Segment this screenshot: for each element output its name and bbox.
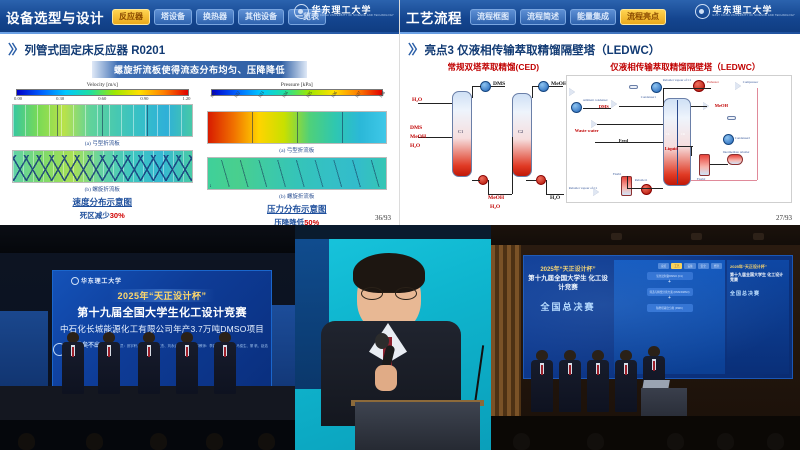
pressure-metric: 压降降低50%: [203, 217, 392, 225]
university-seal-icon: [71, 277, 79, 285]
led-tab: 经济: [711, 263, 722, 269]
team-member: [559, 350, 581, 412]
ced-dms-product-label: DMS: [493, 81, 505, 87]
velocity-caption-a: (a) 弓型折流板: [8, 139, 197, 147]
ceiling-light-icon: [691, 233, 702, 240]
podium: [355, 402, 480, 450]
double-chevron-icon: 〉〉: [408, 39, 422, 58]
screen-university-logo: 华东理工大学: [71, 276, 122, 285]
main-projection-screen: 华东理工大学 2025年“天正设计杯” 第十九届全国大学生化工设计竞赛 中石化长…: [52, 270, 272, 390]
ledwc-cr-label: CR: [681, 132, 685, 136]
screen-recording-composite: 设备选型与设计 反应器 塔设备 换热器 其他设备 一览表 华东理工大学 EAST…: [0, 0, 800, 450]
right-page-number: 27/93: [776, 214, 792, 222]
ced-c2-label: C2: [518, 129, 523, 134]
ledwc-flowsheet: Reboiler vapour of C1 CL CR Liquid Ambie…: [566, 75, 792, 203]
left-page-number: 36/93: [375, 214, 391, 222]
led-slide-tabs: 总览 工艺 设备 安全 经济: [617, 263, 722, 269]
ced-reboiler-link-1: [472, 180, 480, 181]
pressure-metric-value: 50%: [304, 218, 319, 225]
speaker-hand: [375, 365, 397, 391]
auditorium-ceiling: [0, 225, 295, 253]
ledwc-meoh-label: MeOH: [715, 103, 728, 108]
velocity-contour-bow-baffle: [12, 104, 193, 137]
ledwc-liquid-to-flash2: [691, 146, 692, 156]
velocity-metric: 死区减少30%: [8, 210, 197, 221]
competition-main-title: 第十九届全国大学生化工设计竞赛: [77, 304, 247, 320]
left-slide: 设备选型与设计 反应器 塔设备 换热器 其他设备 一览表 华东理工大学 EAST…: [0, 0, 400, 225]
pfd-row: C1 C2: [408, 75, 792, 203]
velocity-tick: 0.60: [98, 96, 106, 101]
ced-feed-h2o2-label: H₂O: [410, 143, 420, 149]
ledwc-ambient-line: [583, 108, 611, 109]
pressure-ticks: 101 102 103 104 105 106 107 108: [209, 96, 386, 108]
team-info: 且助矣不出吾 参赛队员：张宇轩、陈思远、杨文杰、刘永波、黄瑾轩 指导教师：李建国…: [53, 340, 271, 358]
ced-bottoms-h2o-label: H₂O: [490, 204, 500, 210]
tab-flow-diagram[interactable]: 流程框图: [470, 9, 516, 25]
team-member: [587, 350, 609, 412]
audience-silhouettes: [491, 416, 800, 450]
competition-year-title: 2025年“天正设计杯”: [109, 289, 214, 302]
university-name-en: EAST CHINA UNIVERSITY OF SCIENCE AND TEC…: [312, 15, 394, 18]
ced-bottoms-riser-1: [488, 180, 489, 194]
ced-feed-water-line: [418, 103, 452, 104]
ledwc-liquid-draw: [677, 146, 693, 147]
velocity-caption-b: (b) 螺旋折流板: [8, 185, 197, 193]
team-member: [98, 332, 120, 394]
ledwc-valve-2: [611, 100, 617, 108]
ledwc-flash1-riser: [627, 176, 628, 188]
ledwc-liquid-label: Liquid: [665, 146, 678, 151]
screen-university-name: 华东理工大学: [81, 276, 122, 285]
ced-overhead-line-1: [472, 86, 481, 87]
pressure-caption-a: (a) 弓型折流板: [203, 146, 392, 154]
university-logo-text: 华东理工大学 EAST CHINA UNIVERSITY OF SCIENCE …: [713, 6, 795, 18]
university-logo-left: 华东理工大学 EAST CHINA UNIVERSITY OF SCIENCE …: [294, 4, 394, 19]
ledwc-heat-exchanger-1: [629, 85, 638, 89]
ced-condenser-2: [538, 81, 549, 92]
team-member: [214, 332, 236, 394]
ledwc-intermediate-reboiler-label: Intermediate reboiler: [723, 150, 750, 154]
university-seal-icon: [695, 4, 710, 19]
tab-energy-integration[interactable]: 能量集成: [570, 9, 616, 25]
led-tab: 安全: [698, 263, 709, 269]
tab-flow-highlights[interactable]: 流程亮点: [620, 9, 666, 25]
video-row: 华东理工大学 2025年“天正设计杯” 第十九届全国大学生化工设计竞赛 中石化长…: [0, 225, 800, 450]
led-side-final: 全国总决赛: [730, 290, 786, 297]
ced-vapor-riser-1: [472, 86, 473, 98]
ledwc-compressed-vapor-return: [757, 88, 758, 180]
velocity-tick: 0.30: [56, 96, 64, 101]
ledwc-vapor-riser: [663, 88, 664, 106]
velocity-metric-text: 死区减少: [80, 211, 110, 220]
backdrop-top-band: [295, 225, 491, 239]
ledwc-preheater-label: Preheater: [707, 80, 719, 84]
ledwc-valve-1: [569, 88, 575, 96]
velocity-tick: 0.00: [14, 96, 22, 101]
video-panel-speaker[interactable]: [295, 225, 491, 450]
ledwc-condenser-2: [723, 134, 734, 145]
ced-vapor-riser-2: [532, 86, 533, 98]
slides-row: 设备选型与设计 反应器 塔设备 换热器 其他设备 一览表 华东理工大学 EAST…: [0, 0, 800, 225]
ced-column-c2: [512, 93, 532, 177]
velocity-colorbar: [16, 89, 189, 96]
ced-bottoms-product-label: H₂O: [550, 195, 560, 201]
university-logo-right: 华东理工大学 EAST CHINA UNIVERSITY OF SCIENCE …: [695, 4, 795, 19]
velocity-ticks: 0.00 0.30 0.60 0.90 1.20: [14, 96, 191, 101]
plus-icon: +: [617, 280, 722, 285]
velocity-heading: 速度分布示意图: [8, 196, 197, 208]
team-member: [62, 332, 84, 394]
ledwc-compressor-icon: [735, 82, 741, 90]
ledwc-vapor-header: [663, 88, 711, 89]
video-panel-stage-led[interactable]: 2025年“天正设计杯” 第十九届全国大学生 化工设计竞赛 全国总决赛 总览 工…: [491, 225, 800, 450]
ced-meoh-product-label: MeOH: [551, 81, 567, 87]
ledwc-overhead-left: [619, 106, 663, 107]
pressure-caption-b: (b) 螺旋折流板: [203, 192, 392, 200]
ledwc-preheater: [693, 80, 705, 92]
ledwc-heat-exchanger-2: [727, 116, 736, 120]
ced-interstage-line: [512, 137, 513, 194]
left-slide-title-row: 〉〉 列管式固定床反应器 R0201: [8, 39, 391, 58]
team-member: [176, 332, 198, 394]
led-competition-year: 2025年“天正设计杯”: [528, 264, 608, 273]
pressure-colorbar-label: Pressure [kPa]: [203, 82, 392, 88]
led-flow-box: 隔壁塔耦合分离 (DWC): [647, 304, 693, 312]
ledwc-flash-2: [699, 154, 710, 176]
diagram-headings: 常规双塔萃取精馏(CED) 仅液相传输萃取精馏隔壁塔（LEDWC）: [408, 61, 792, 73]
ceiling-light-icon: [611, 233, 622, 240]
ledwc-bottoms-line: [627, 188, 663, 189]
microphone-head-icon: [375, 333, 389, 349]
ced-heading: 常规双塔萃取精馏(CED): [408, 61, 579, 73]
university-seal-icon: [294, 4, 309, 19]
ledwc-condenser-1: [651, 82, 662, 93]
ledwc-ambient-condenser: [571, 102, 582, 113]
ced-feed-h2o-label: H₂O: [412, 97, 422, 103]
led-side-title: 第十九届全国大学生 化工设计竞赛: [730, 272, 786, 283]
ced-condenser-1: [480, 81, 491, 92]
led-side-year: 2025年“天正设计杯”: [730, 264, 786, 270]
left-header-title: 设备选型与设计: [6, 7, 104, 27]
right-slide-title: 亮点3 仅液相传输萃取精馏隔壁塔（LEDWC）: [425, 42, 661, 58]
audience-silhouettes: [0, 420, 295, 450]
velocity-panel: Velocity [m/s] 0.00 0.30 0.60 0.90 1.20 …: [8, 82, 197, 225]
ledwc-valve-5: [593, 188, 599, 196]
ledwc-feed-line: [595, 142, 663, 143]
led-pane-side: 2025年“天正设计杯” 第十九届全国大学生 化工设计竞赛 全国总决赛: [727, 260, 789, 374]
led-competition-title: 第十九届全国大学生 化工设计竞赛: [528, 275, 608, 293]
glasses-icon: [361, 287, 417, 300]
university-name-en: EAST CHINA UNIVERSITY OF SCIENCE AND TEC…: [713, 15, 795, 18]
ced-feed-dms-label: DMS: [410, 125, 422, 131]
led-tab: 总览: [658, 263, 669, 269]
ced-column-c1: [452, 91, 472, 177]
ledwc-dividing-wall: [677, 100, 678, 184]
led-tab-active: 工艺: [671, 263, 682, 269]
tab-heat-exchanger[interactable]: 换热器: [196, 9, 234, 25]
velocity-contour-helical-baffle: [12, 150, 193, 183]
right-slide-title-row: 〉〉 亮点3 仅液相传输萃取精馏隔壁塔（LEDWC）: [408, 39, 792, 58]
ledwc-sidedraw-line: [597, 124, 663, 125]
ledwc-condenser2-label: Condenser2: [735, 136, 750, 140]
ced-reboiler-link-2: [526, 180, 536, 181]
led-tab: 设备: [684, 263, 695, 269]
cfd-panels: Velocity [m/s] 0.00 0.30 0.60 0.90 1.20 …: [8, 82, 391, 225]
left-slide-header: 设备选型与设计 反应器 塔设备 换热器 其他设备 一览表 华东理工大学 EAST…: [0, 0, 399, 34]
ledwc-cl-label: CL: [666, 132, 670, 136]
left-slide-title: 列管式固定床反应器 R0201: [25, 42, 166, 58]
pressure-panel: Pressure [kPa] 101 102 103 104 105 106 1…: [203, 82, 392, 225]
ced-overhead-line-2: [532, 86, 539, 87]
tab-other-equipment[interactable]: 其他设备: [238, 9, 284, 25]
ledwc-flash1-label: Flash1: [613, 172, 622, 176]
velocity-colorbar-label: Velocity [m/s]: [8, 82, 197, 88]
ledwc-heading: 仅液相传输萃取精馏隔壁塔（LEDWC）: [579, 61, 792, 73]
pressure-heading: 压力分布示意图: [203, 203, 392, 215]
velocity-tick: 0.90: [140, 96, 148, 101]
ced-c1-label: C1: [458, 129, 463, 134]
right-slide: 工艺流程 流程框图 流程简述 能量集成 流程亮点 华东理工大学 EAST CHI…: [400, 0, 800, 225]
double-chevron-icon: 〉〉: [8, 39, 22, 58]
ledwc-overhead-right: [691, 106, 707, 107]
right-slide-body: 〉〉 亮点3 仅液相传输萃取精馏隔壁塔（LEDWC） 常规双塔萃取精馏(CED)…: [400, 34, 800, 225]
team-member: [615, 350, 637, 412]
ced-bottoms-riser-2: [546, 180, 547, 194]
pressure-tick: 108: [378, 90, 392, 103]
ledwc-waste-water-label: Waste water: [575, 128, 599, 133]
left-slide-banner: 螺旋折流板使得流态分布均匀、压降降低: [92, 61, 307, 78]
velocity-metric-value: 30%: [110, 211, 125, 220]
ledwc-compressor-label: Compressor: [743, 80, 758, 84]
ceiling-light-icon: [753, 233, 764, 240]
pressure-contour-bow-baffle: [207, 111, 388, 144]
tab-flow-description[interactable]: 流程简述: [520, 9, 566, 25]
right-header-tabs: 流程框图 流程简述 能量集成 流程亮点: [470, 9, 666, 25]
ledwc-top-note: Reboiler vapour of C1: [663, 78, 692, 82]
plus-icon: +: [617, 296, 722, 301]
ledwc-ambient-condenser-label: Ambient condenser: [583, 98, 608, 102]
right-header-title: 工艺流程: [406, 7, 462, 27]
team-member: [138, 332, 160, 394]
ced-feed-meoh-label: MeOH: [410, 134, 426, 140]
team-member: [531, 350, 553, 412]
video-panel-stage-wide[interactable]: 华东理工大学 2025年“天正设计杯” 第十九届全国大学生化工设计竞赛 中石化长…: [0, 225, 295, 450]
ledwc-flash2-outlet: [710, 164, 728, 165]
pressure-contour-helical-baffle: [207, 157, 388, 190]
ledwc-vapor-return-line: [691, 180, 757, 181]
ledwc-reboiler1-label: Reboiler1: [635, 178, 648, 182]
left-slide-body: 〉〉 列管式固定床反应器 R0201 螺旋折流板使得流态分布均匀、压降降低 Ve…: [0, 34, 399, 225]
ledwc-reboiler-1: [641, 184, 652, 195]
ced-reboiler-2: [536, 175, 546, 185]
university-logo-text: 华东理工大学 EAST CHINA UNIVERSITY OF SCIENCE …: [312, 6, 394, 18]
tab-reactor[interactable]: 反应器: [112, 9, 150, 25]
led-final-round: 全国总决赛: [528, 300, 608, 313]
ced-bottoms-meoh-label: MeOH: [488, 195, 504, 201]
pressure-metric-text: 压降降低: [274, 218, 304, 225]
ledwc-intermediate-reboiler: [727, 154, 743, 165]
ledwc-condenser1-label: Condenser1: [641, 95, 656, 99]
right-slide-header: 工艺流程 流程框图 流程简述 能量集成 流程亮点 华东理工大学 EAST CHI…: [400, 0, 800, 34]
velocity-tick: 1.20: [182, 96, 190, 101]
ced-flowsheet: C1 C2: [408, 75, 564, 203]
tab-tower-equipment[interactable]: 塔设备: [154, 9, 192, 25]
